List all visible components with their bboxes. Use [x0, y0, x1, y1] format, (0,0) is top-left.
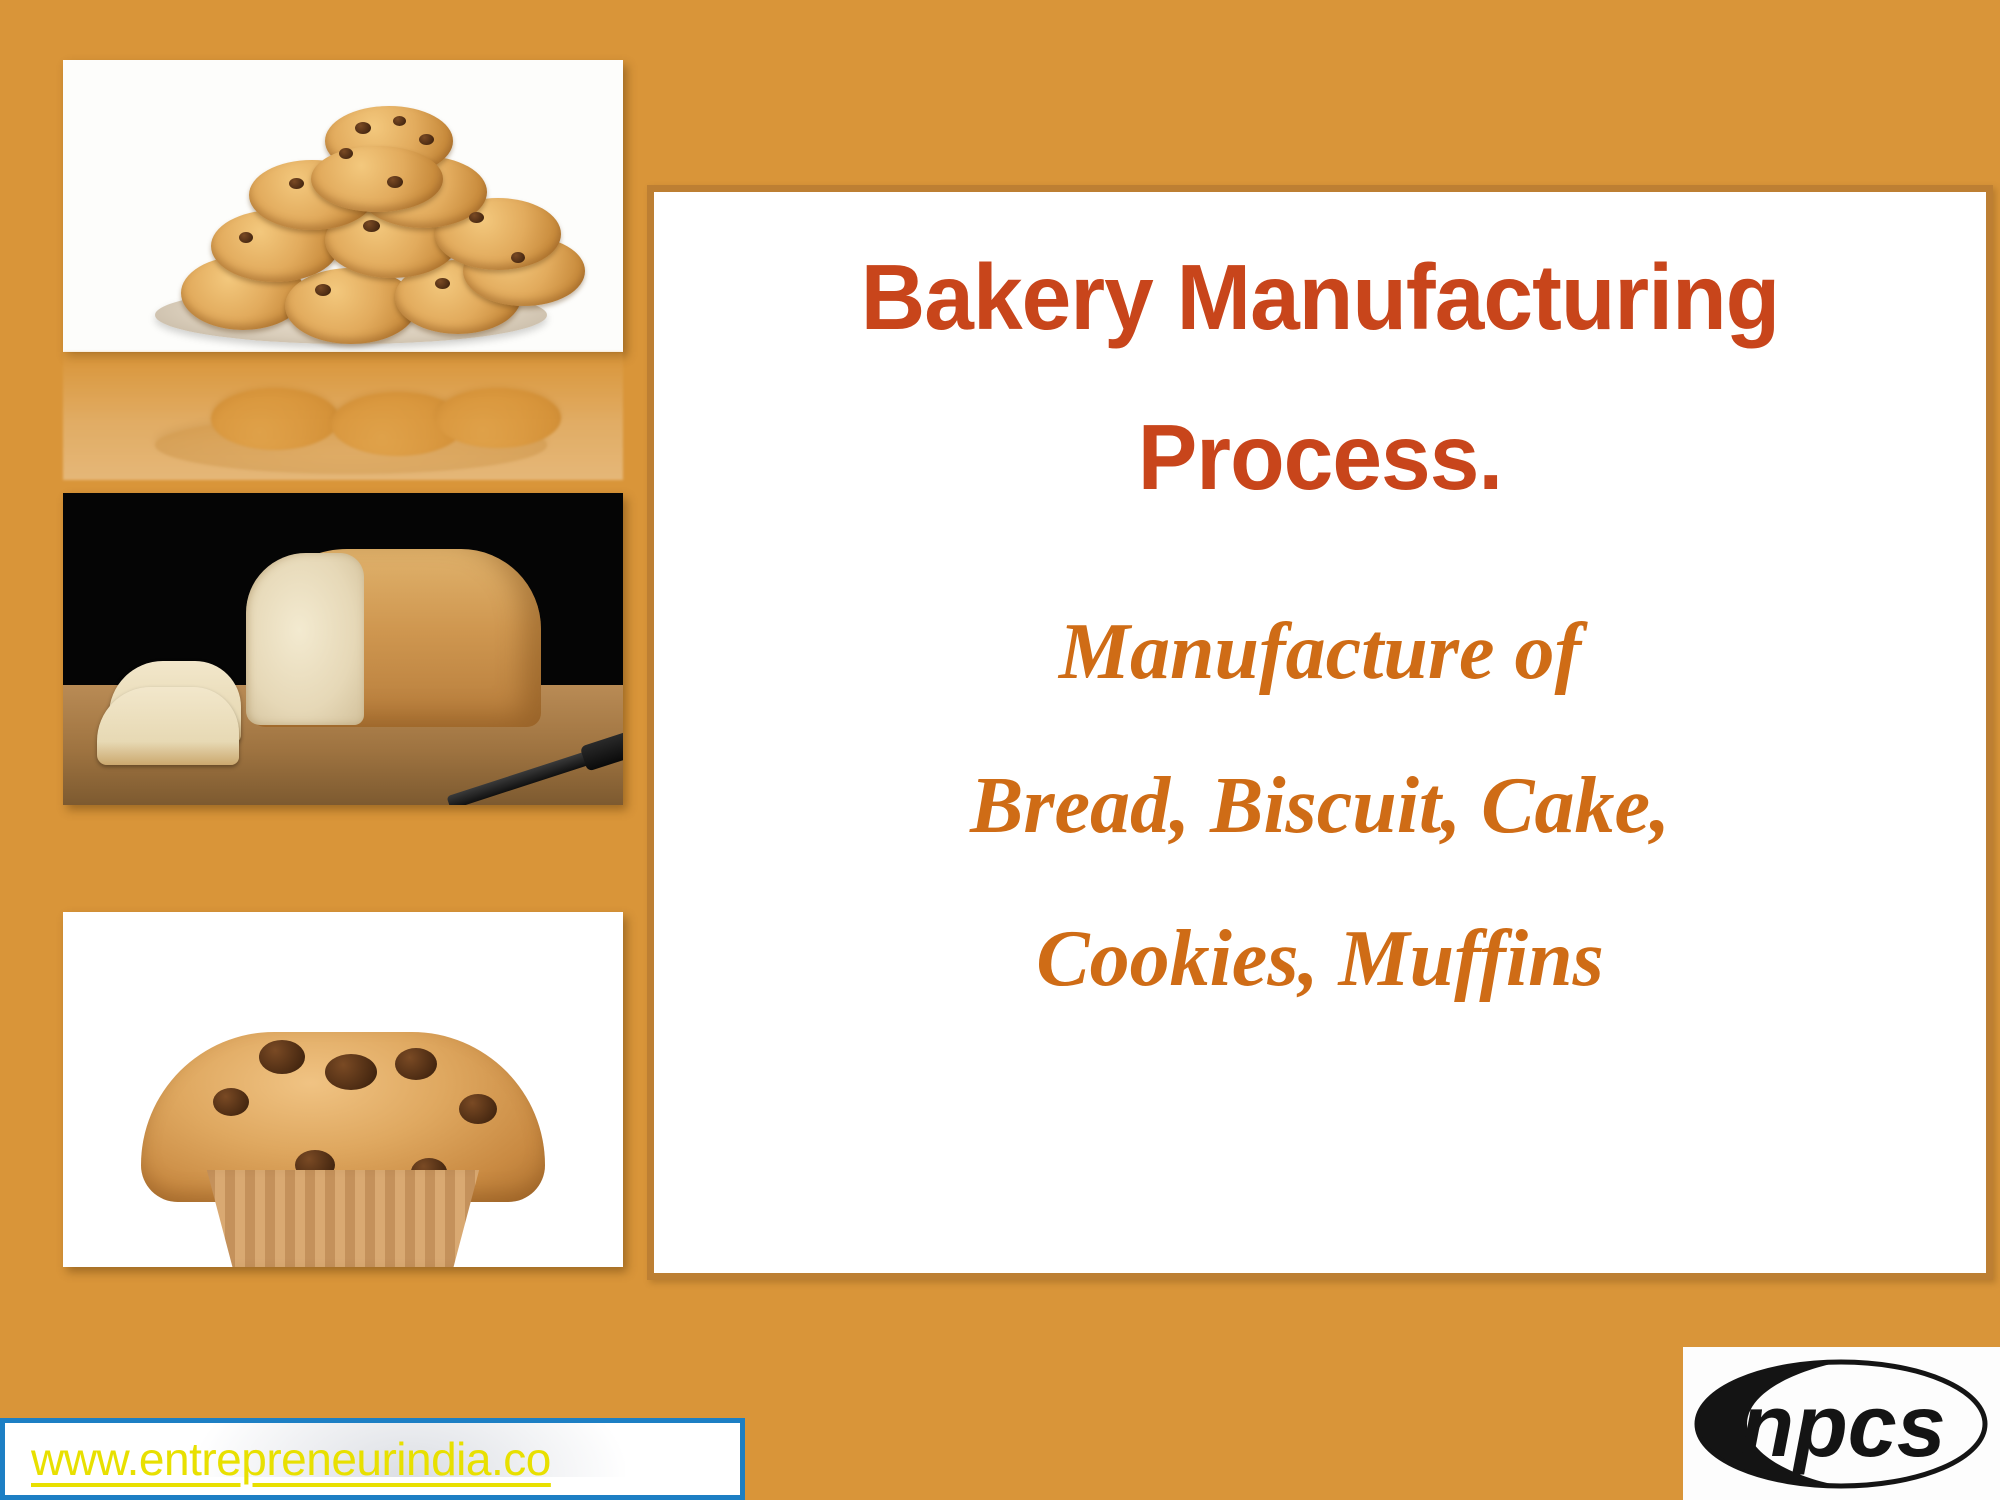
content-panel: Bakery Manufacturing Process. Manufactur…	[647, 185, 1993, 1280]
cookies-photo-reflection	[63, 352, 623, 480]
muffin-cup-shape	[195, 1170, 491, 1267]
subtitle-line-1: Manufacture of	[654, 576, 1986, 730]
slide-canvas: Bakery Manufacturing Process. Manufactur…	[0, 0, 2000, 1500]
page-title-line-1: Bakery Manufacturing	[681, 218, 1960, 378]
bread-photo	[63, 493, 623, 805]
website-url-box[interactable]: www.entrepreneurindia.co	[0, 1418, 745, 1500]
muffin-photo	[63, 912, 623, 1267]
npcs-wordmark: npcs	[1740, 1376, 1945, 1475]
bread-illustration	[63, 493, 623, 805]
muffin-illustration	[63, 912, 623, 1267]
subtitle-line-2: Bread, Biscuit, Cake,	[654, 730, 1986, 884]
website-url-link[interactable]: www.entrepreneurindia.co	[5, 1432, 551, 1486]
loaf-cut-face	[246, 553, 364, 725]
page-title-line-2: Process.	[681, 378, 1960, 538]
cookies-illustration	[63, 60, 623, 352]
photo-column	[0, 0, 612, 1500]
npcs-logo-icon: npcs	[1691, 1353, 1991, 1495]
npcs-logo-box: npcs	[1683, 1347, 2000, 1500]
subtitle-line-3: Cookies, Muffins	[654, 883, 1986, 1037]
bread-slice-front	[97, 687, 239, 765]
muffin-photo-inner	[63, 912, 623, 1267]
cookies-photo-inner	[63, 60, 623, 352]
bread-photo-inner	[63, 493, 623, 805]
cookies-photo	[63, 60, 623, 352]
